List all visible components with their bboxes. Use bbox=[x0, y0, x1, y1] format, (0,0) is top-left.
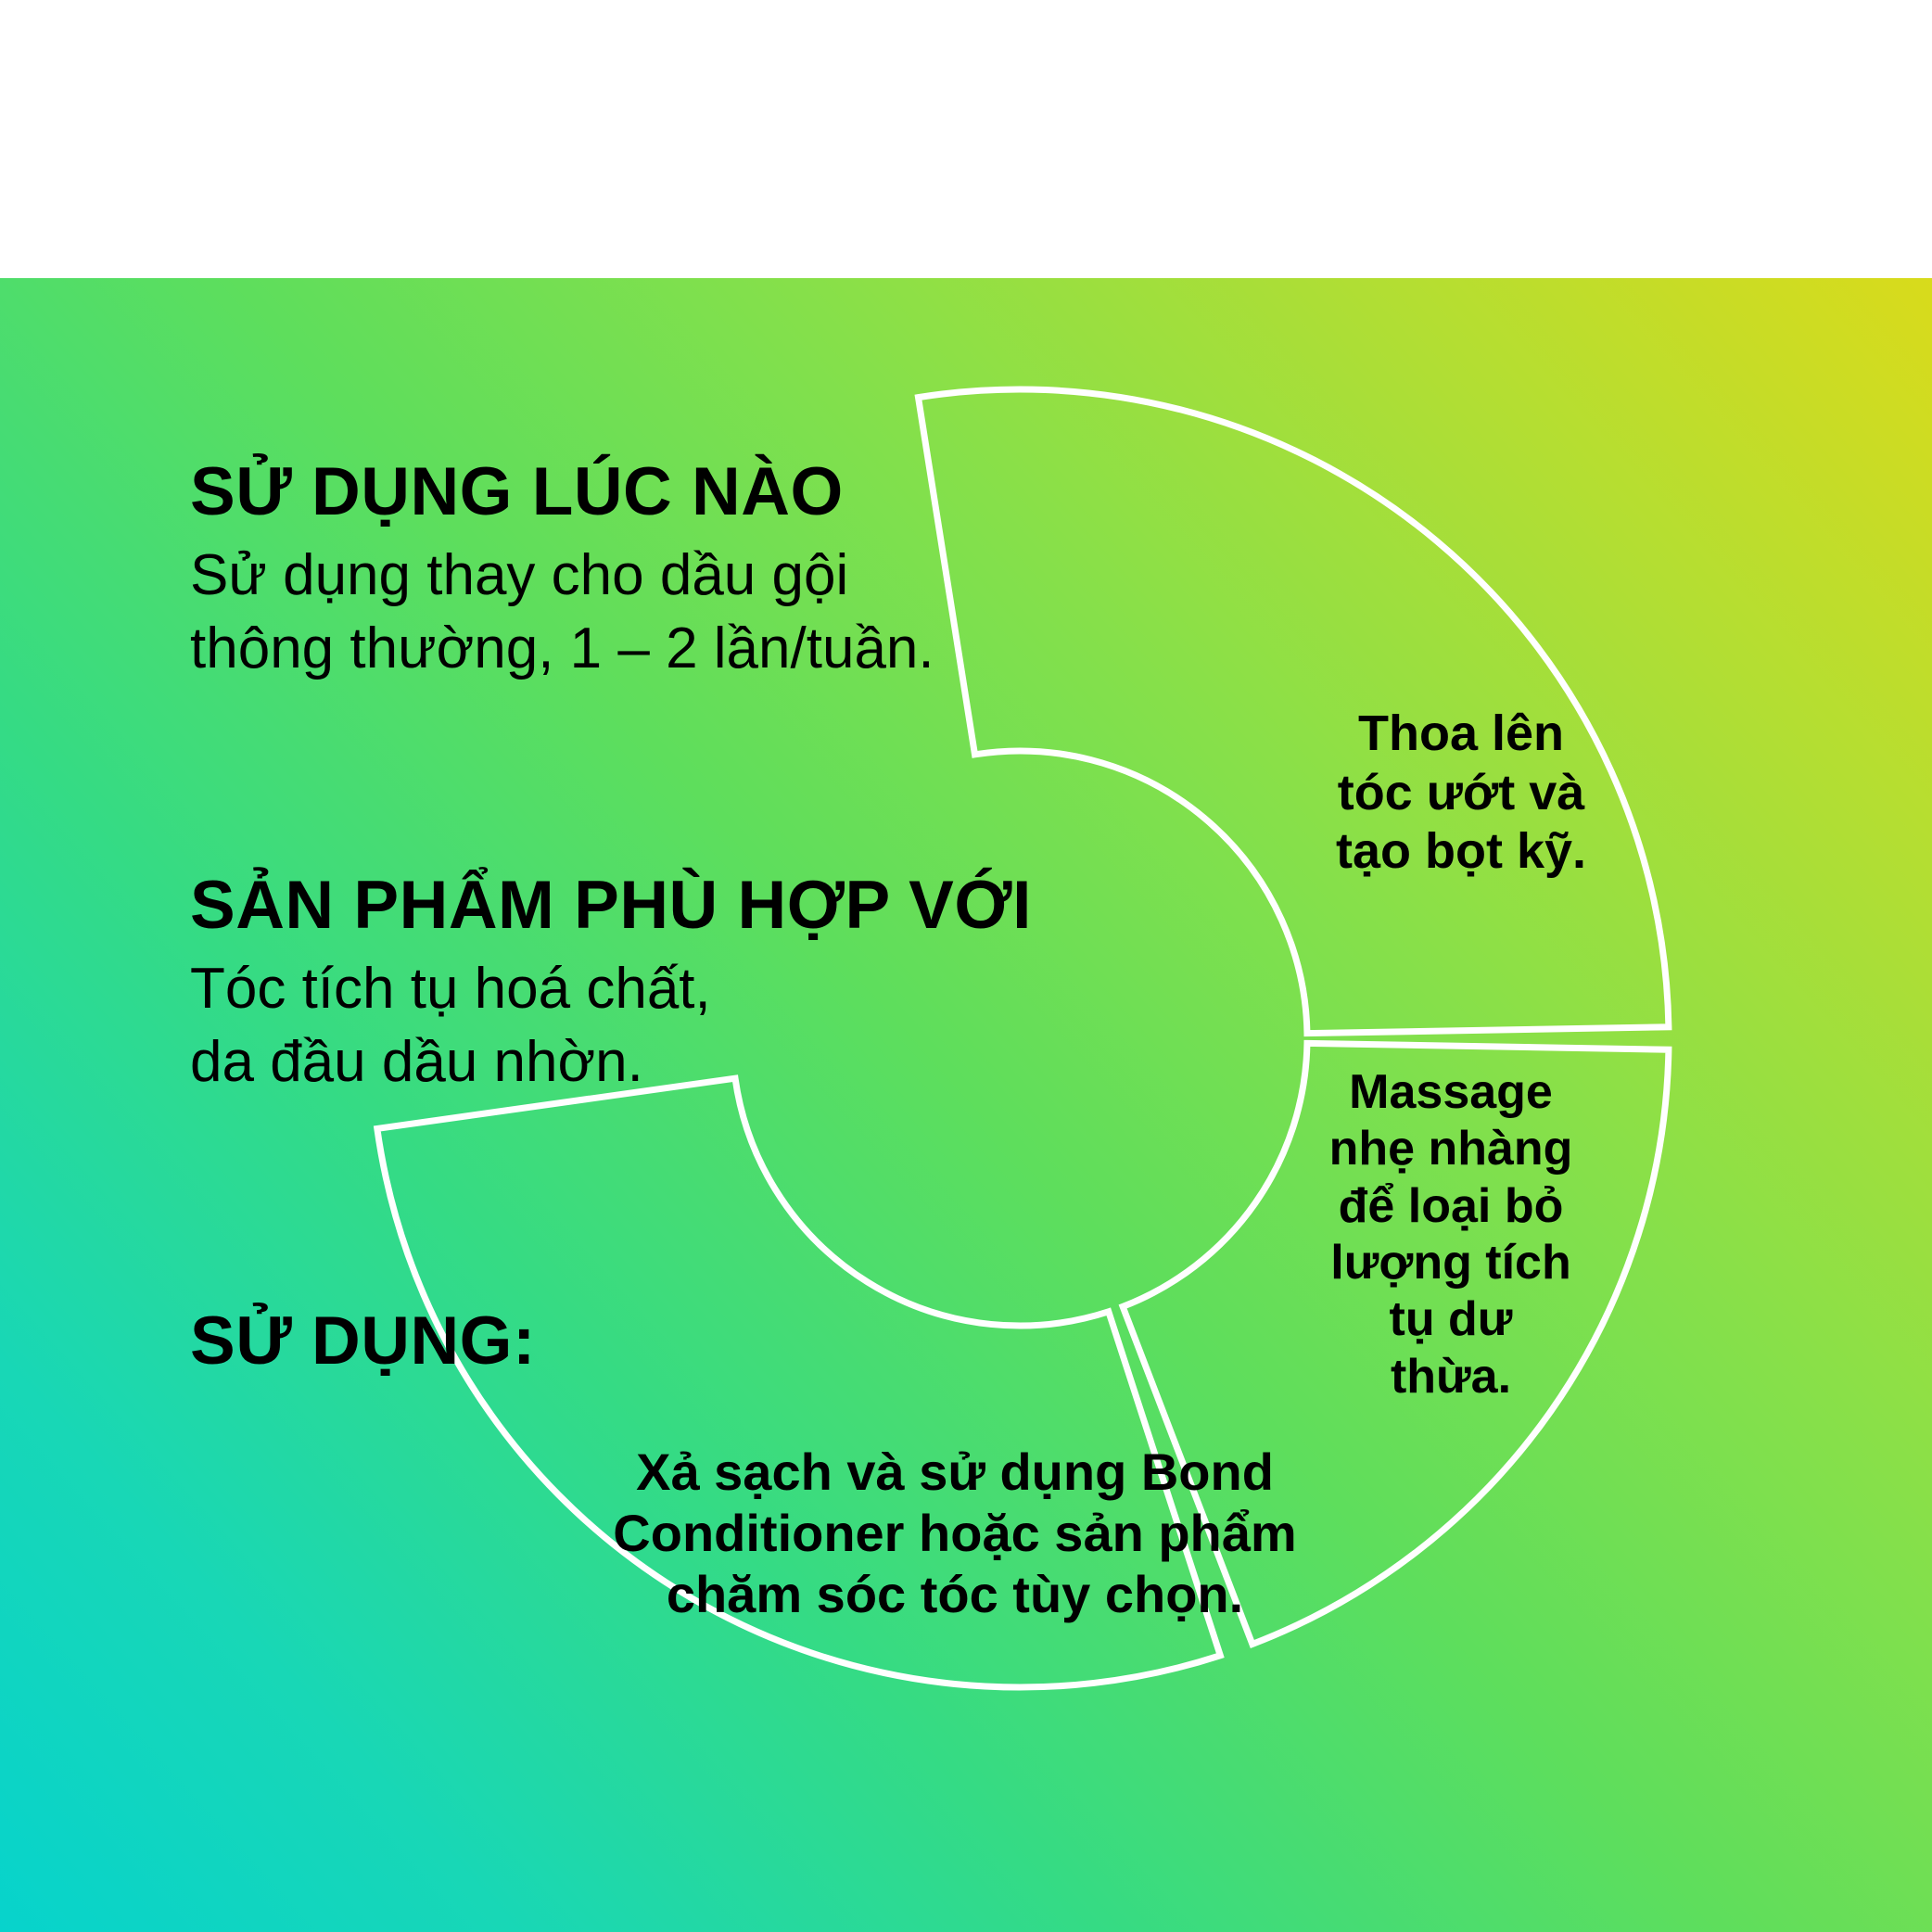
section-howto-title: SỬ DỤNG: bbox=[190, 1305, 536, 1379]
section-howto: SỬ DỤNG: bbox=[190, 1305, 536, 1388]
step-1-label: Thoa lên tóc ướt và tạo bọt kỹ. bbox=[1303, 705, 1619, 882]
section-when: SỬ DỤNG LÚC NÀO Sử dụng thay cho dầu gội… bbox=[190, 456, 934, 686]
section-suitable-for-title: SẢN PHẨM PHÙ HỢP VỚI bbox=[190, 870, 1032, 943]
section-suitable-for-body: Tóc tích tụ hoá chất, da đầu dầu nhờn. bbox=[190, 952, 1032, 1099]
section-suitable-for: SẢN PHẨM PHÙ HỢP VỚI Tóc tích tụ hoá chấ… bbox=[190, 870, 1032, 1099]
step-3-label: Xả sạch và sử dụng Bond Conditioner hoặc… bbox=[612, 1442, 1298, 1625]
section-when-title: SỬ DỤNG LÚC NÀO bbox=[190, 456, 934, 529]
step-2-label: Massage nhẹ nhàng để loại bỏ lượng tích … bbox=[1307, 1064, 1595, 1405]
section-when-body: Sử dụng thay cho dầu gội thông thường, 1… bbox=[190, 539, 934, 686]
infographic-page: LABORIEderma HAIRSCIENCE bbox=[0, 0, 1932, 1932]
